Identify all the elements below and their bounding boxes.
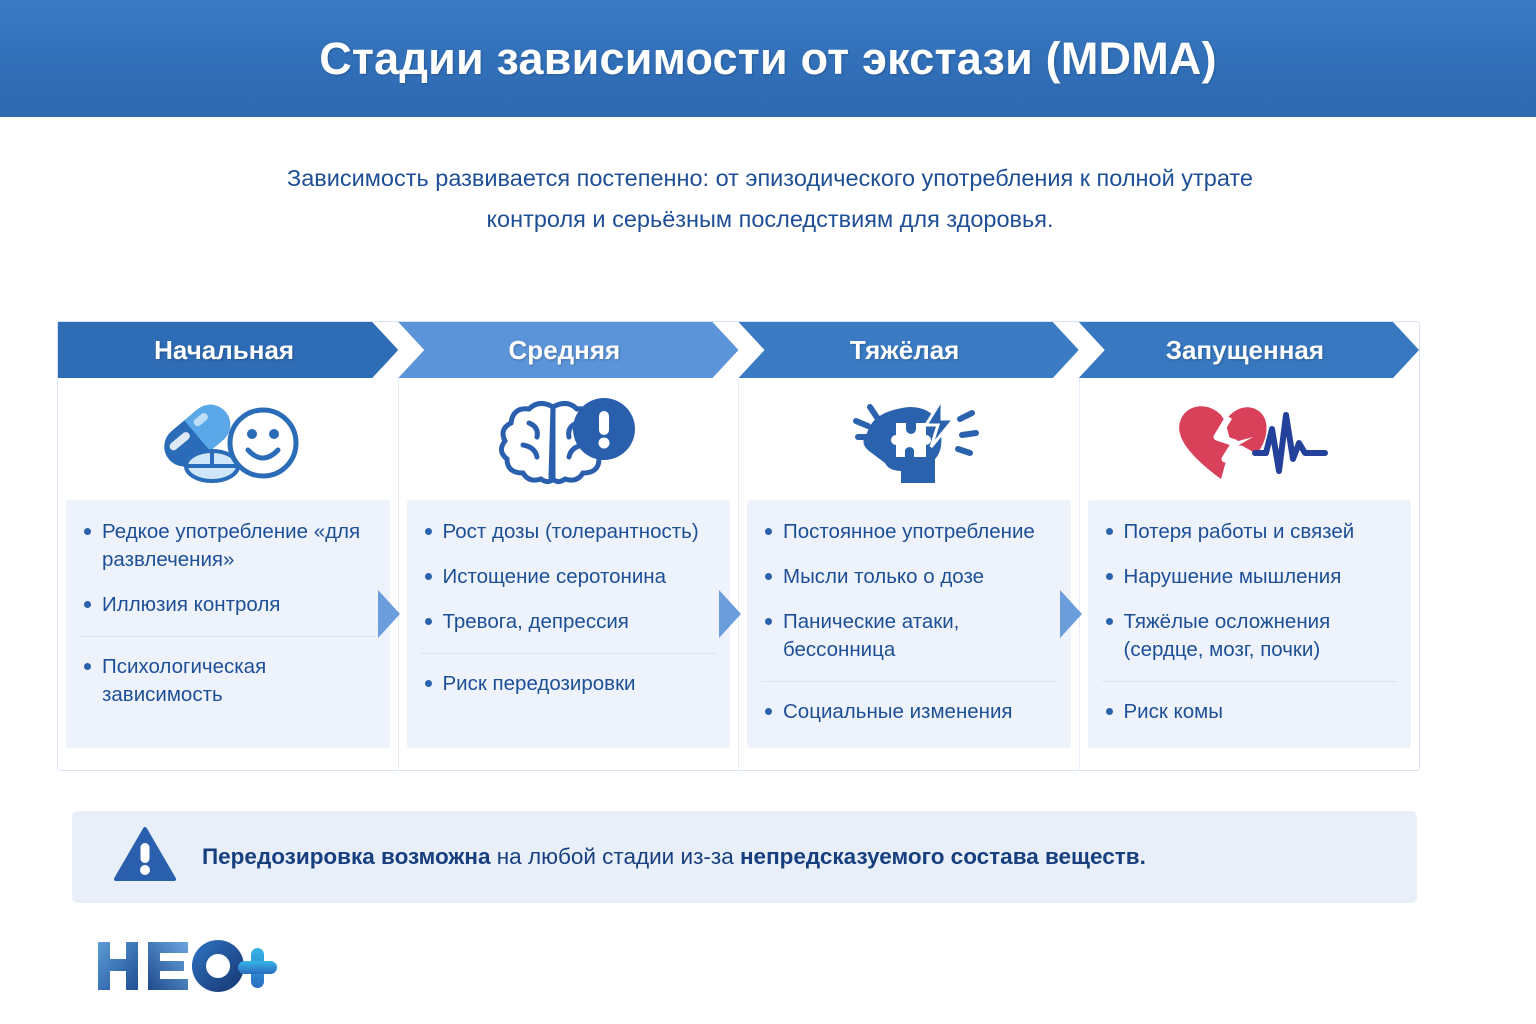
stage-bullet-list: Постоянное употребление Мысли только о д… [761,518,1057,725]
stage-icon-zone [739,378,1079,500]
stage-bullet-panel: Редкое употребление «для развлечения» Ил… [66,500,390,748]
brain-alert-icon [493,393,643,485]
stage-bullet-panel: Постоянное употребление Мысли только о д… [747,500,1071,748]
warning-bold-start: Передозировка возможна [202,844,491,869]
pills-smiley-icon [150,393,305,485]
list-item: Психологическая зависимость [80,636,376,709]
subtitle-line-1: Зависимость развивается постепенно: от э… [150,158,1390,199]
stage-bullet-panel: Потеря работы и связей Нарушение мышлени… [1088,500,1412,748]
stage-header-label: Начальная [58,335,398,366]
warning-text: Передозировка возможна на любой стадии и… [202,844,1146,870]
stage-bullet-list: Рост дозы (толерантность) Истощение серо… [421,518,717,698]
list-item: Риск передозировки [421,653,717,698]
stage-icon-zone [1080,378,1420,500]
list-item: Иллюзия контроля [80,591,376,619]
stage-bullet-list: Потеря работы и связей Нарушение мышлени… [1102,518,1398,725]
stage-header-nachalnaya[interactable]: Начальная [58,322,398,378]
subtitle-line-2: контроля и серьёзным последствиям для зд… [150,199,1390,240]
broken-heart-ecg-icon [1169,393,1329,485]
list-item: Тревога, депрессия [421,608,717,636]
stage-header-tyazhelaya[interactable]: Тяжёлая [739,322,1079,378]
list-item: Тяжёлые осложнения (сердце, мозг, почки) [1102,608,1398,664]
list-item: Истощение серотонина [421,563,717,591]
stage-body-row: Редкое употребление «для развлечения» Ил… [58,378,1419,771]
neo-plus-logo-icon [94,938,284,996]
stage-header-row: Начальная Средняя Тяжёлая Запущенная [58,322,1419,378]
stage-bullet-list: Редкое употребление «для развлечения» Ил… [80,518,376,708]
list-item: Нарушение мышления [1102,563,1398,591]
list-item: Мысли только о дозе [761,563,1057,591]
stage-bullet-panel: Рост дозы (толерантность) Истощение серо… [407,500,731,748]
list-item: Рост дозы (толерантность) [421,518,717,546]
warning-banner: Передозировка возможна на любой стадии и… [72,811,1417,903]
stage-column-srednyaya: Рост дозы (толерантность) Истощение серо… [399,378,740,771]
stage-connector-arrow-1 [378,590,400,638]
stage-connector-arrow-3 [1060,590,1082,638]
list-item: Социальные изменения [761,681,1057,726]
head-panic-icon [834,391,984,487]
page-title: Стадии зависимости от экстази (MDMA) [319,33,1217,85]
stage-icon-zone [399,378,739,500]
stage-header-zapushchennaya[interactable]: Запущенная [1079,322,1419,378]
list-item: Риск комы [1102,681,1398,726]
list-item: Постоянное употребление [761,518,1057,546]
stage-column-tyazhelaya: Постоянное употребление Мысли только о д… [739,378,1080,771]
page-header: Стадии зависимости от экстази (MDMA) [0,0,1536,117]
page-subtitle: Зависимость развивается постепенно: от э… [150,158,1390,240]
list-item: Редкое употребление «для развлечения» [80,518,376,574]
logo[interactable]: НЕО+ [94,938,284,996]
stage-header-label: Средняя [398,335,738,366]
stage-connector-arrow-2 [719,590,741,638]
stages-card: Начальная Средняя Тяжёлая Запущенная [57,321,1420,771]
stage-column-nachalnaya: Редкое употребление «для развлечения» Ил… [58,378,399,771]
stage-header-srednyaya[interactable]: Средняя [398,322,738,378]
stage-header-label: Запущенная [1079,335,1419,366]
stage-header-label: Тяжёлая [739,335,1079,366]
stage-icon-zone [58,378,398,500]
list-item: Панические атаки, бессонница [761,608,1057,664]
warning-bold-end: непредсказуемого состава веществ. [740,844,1146,869]
stage-column-zapushchennaya: Потеря работы и связей Нарушение мышлени… [1080,378,1420,771]
warning-triangle-icon [114,827,176,888]
list-item: Потеря работы и связей [1102,518,1398,546]
warning-middle: на любой стадии из-за [491,844,740,869]
